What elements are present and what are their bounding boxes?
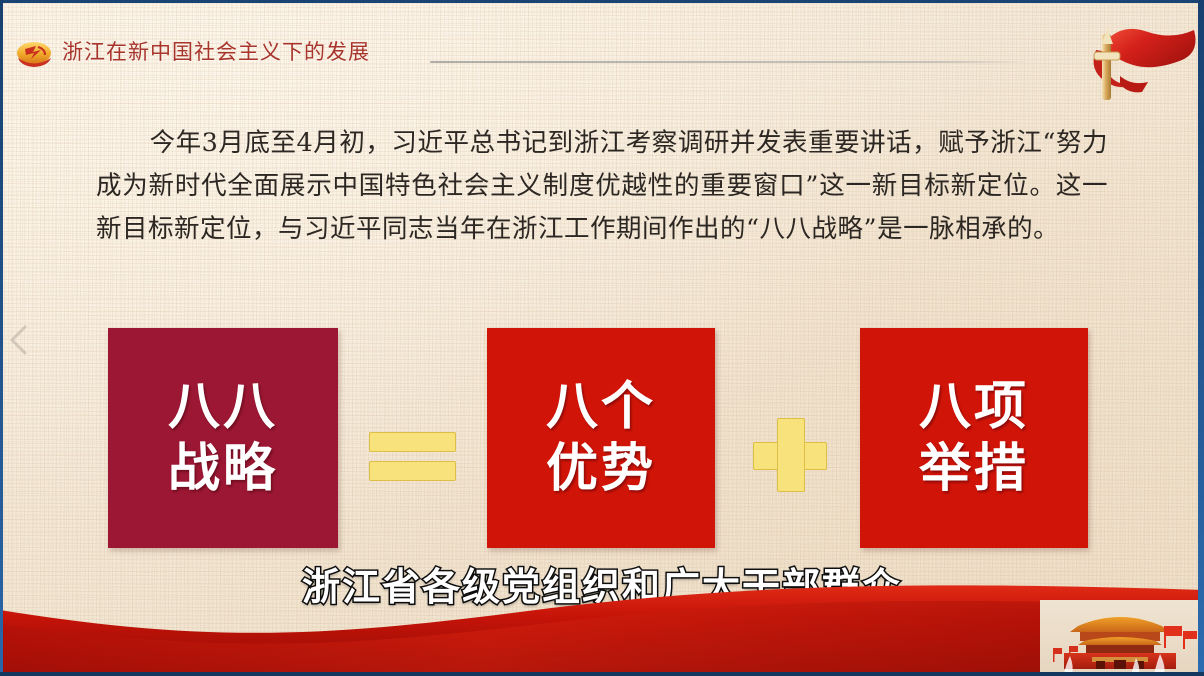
equals-sign-icon	[369, 432, 456, 481]
tiananmen-gate-icon	[1040, 600, 1200, 674]
page-title: 浙江在新中国社会主义下的发展	[62, 36, 370, 66]
box-1-line-1: 八八	[168, 376, 278, 438]
equation-box-strategy: 八八 战略	[108, 328, 338, 548]
presentation-slide: 浙江在新中国社会主义下的发展	[0, 0, 1204, 676]
equals-bar-bottom	[369, 461, 456, 481]
box-1-line-2: 战略	[168, 438, 278, 500]
box-2-line-2: 优势	[546, 438, 656, 500]
equation-row: 八八 战略 八个 优势 八项 举措	[0, 328, 1204, 550]
player-border-bottom	[0, 672, 1204, 676]
box-2-line-1: 八个	[546, 376, 656, 438]
slide-header: 浙江在新中国社会主义下的发展	[0, 14, 1204, 62]
red-flag-icon	[1058, 14, 1198, 100]
player-border-left	[0, 0, 3, 676]
plus-center-fill	[779, 444, 799, 464]
box-3-line-2: 举措	[919, 438, 1029, 500]
paragraph-text: 今年3月底至4月初，习近平总书记到浙江考察调研并发表重要讲话，赋予浙江“努力成为…	[96, 128, 1108, 244]
header-divider	[430, 61, 1030, 63]
ccp-party-emblem-icon	[8, 40, 60, 70]
body-paragraph: 今年3月底至4月初，习近平总书记到浙江考察调研并发表重要讲话，赋予浙江“努力成为…	[96, 122, 1108, 251]
player-border-top	[0, 0, 1204, 3]
equation-box-measures: 八项 举措	[860, 328, 1088, 548]
player-border-right	[1198, 0, 1204, 676]
box-3-line-1: 八项	[919, 376, 1029, 438]
plus-sign-icon	[753, 418, 825, 490]
equals-bar-top	[369, 432, 456, 452]
equation-box-advantages: 八个 优势	[487, 328, 715, 548]
subtitle-caption: 浙江省各级党组织和广大干部群众	[0, 556, 1204, 611]
